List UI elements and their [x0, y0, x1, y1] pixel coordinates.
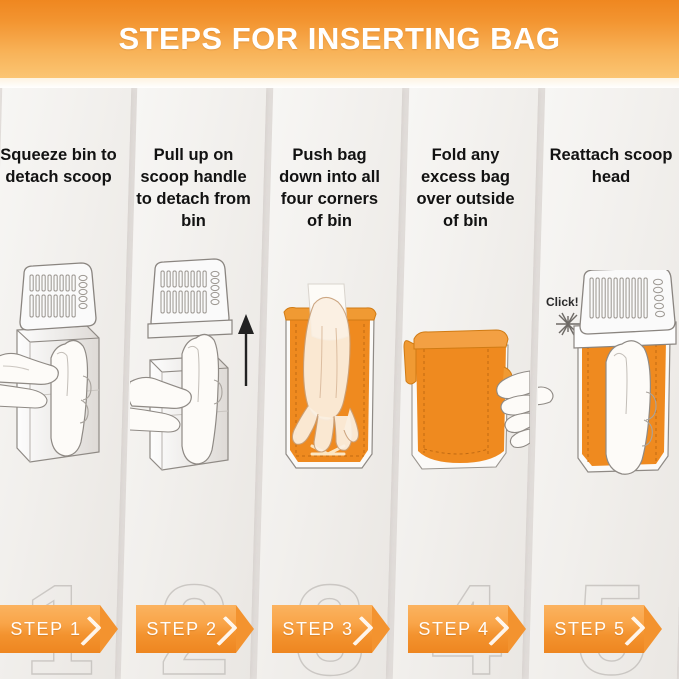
header-fade-divider — [0, 78, 679, 88]
step-banner-4[interactable]: STEP 4 — [408, 605, 526, 653]
step-illustration-1 — [0, 256, 123, 516]
step-caption-5: Reattach scoop head — [537, 144, 679, 188]
step-banner-3[interactable]: STEP 3 — [272, 605, 390, 653]
step-panel-2: Pull up on scoop handle to detach from b… — [121, 88, 267, 679]
banner-arrow-tip-4 — [508, 605, 526, 653]
step-panel-5: Reattach scoop head 5 Click! — [529, 88, 679, 679]
step-illustration-4 — [401, 323, 530, 583]
steps-strip: Squeeze bin to detach scoop 1 — [0, 88, 679, 679]
page-title: STEPS FOR INSERTING BAG — [118, 21, 560, 57]
instruction-poster: STEPS FOR INSERTING BAG Squeeze bin to d… — [0, 0, 679, 679]
step-caption-1: Squeeze bin to detach scoop — [0, 144, 123, 188]
up-arrow-icon — [238, 314, 254, 386]
banner-arrow-tip-1 — [100, 605, 118, 653]
step-panel-1: Squeeze bin to detach scoop 1 — [0, 88, 131, 679]
poster-header: STEPS FOR INSERTING BAG — [0, 0, 679, 78]
step-banner-5[interactable]: STEP 5 — [544, 605, 662, 653]
banner-arrow-tip-3 — [372, 605, 390, 653]
step-illustration-2 — [129, 256, 258, 516]
step-banner-1[interactable]: STEP 1 — [0, 605, 118, 653]
step-caption-2: Pull up on scoop handle to detach from b… — [129, 144, 258, 232]
step-illustration-5: Click! — [537, 270, 679, 530]
banner-arrow-tip-2 — [236, 605, 254, 653]
step-panel-4: Fold any excess bag over outside of bin … — [393, 88, 539, 679]
step-illustration-3 — [265, 278, 394, 538]
step-caption-3: Push bag down into all four corners of b… — [265, 144, 394, 232]
step-banner-2[interactable]: STEP 2 — [136, 605, 254, 653]
step-caption-4: Fold any excess bag over outside of bin — [401, 144, 530, 232]
banner-arrow-tip-5 — [644, 605, 662, 653]
click-annotation-text: Click! — [546, 295, 579, 309]
step-banner-row: STEP 1 STEP 2 STEP 3 STEP 4 — [0, 605, 679, 653]
step-panel-3: Push bag down into all four corners of b… — [257, 88, 403, 679]
